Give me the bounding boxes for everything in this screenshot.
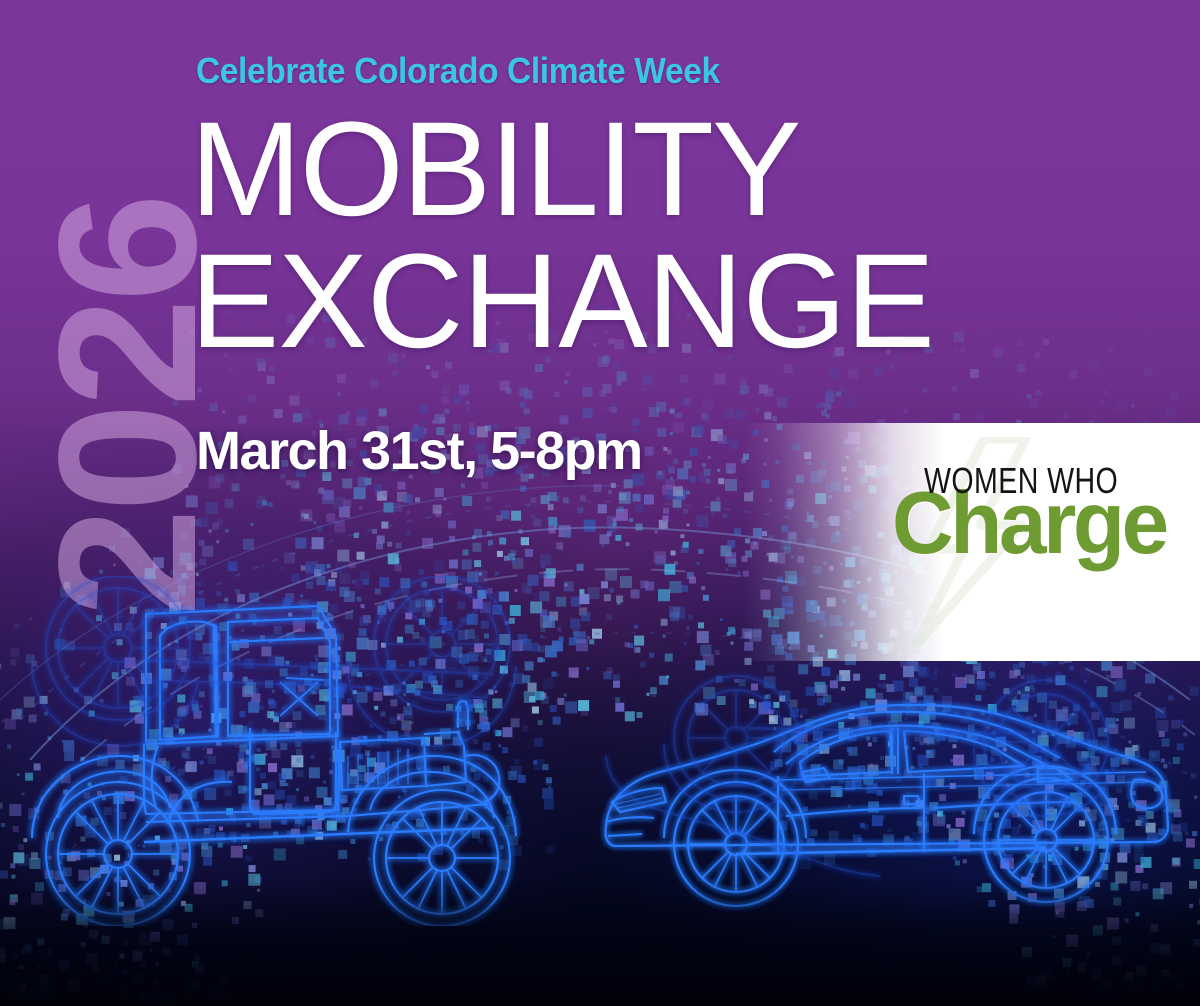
title-line-2: EXCHANGE bbox=[190, 236, 934, 368]
logo-women-who-text: WOMEN WHO bbox=[924, 461, 1118, 502]
event-poster: 2026 bbox=[0, 0, 1200, 1006]
floor-shadow bbox=[0, 880, 1200, 1006]
title-line-1: MOBILITY bbox=[190, 95, 799, 244]
sponsor-logo-panel: Charge WOMEN WHO bbox=[742, 423, 1200, 661]
page-title: MOBILITY EXCHANGE bbox=[190, 104, 934, 368]
poster-kicker: Celebrate Colorado Climate Week bbox=[196, 50, 720, 92]
event-date-time: March 31st, 5-8pm bbox=[196, 420, 642, 482]
women-who-charge-logo: Charge WOMEN WHO bbox=[892, 461, 1192, 591]
